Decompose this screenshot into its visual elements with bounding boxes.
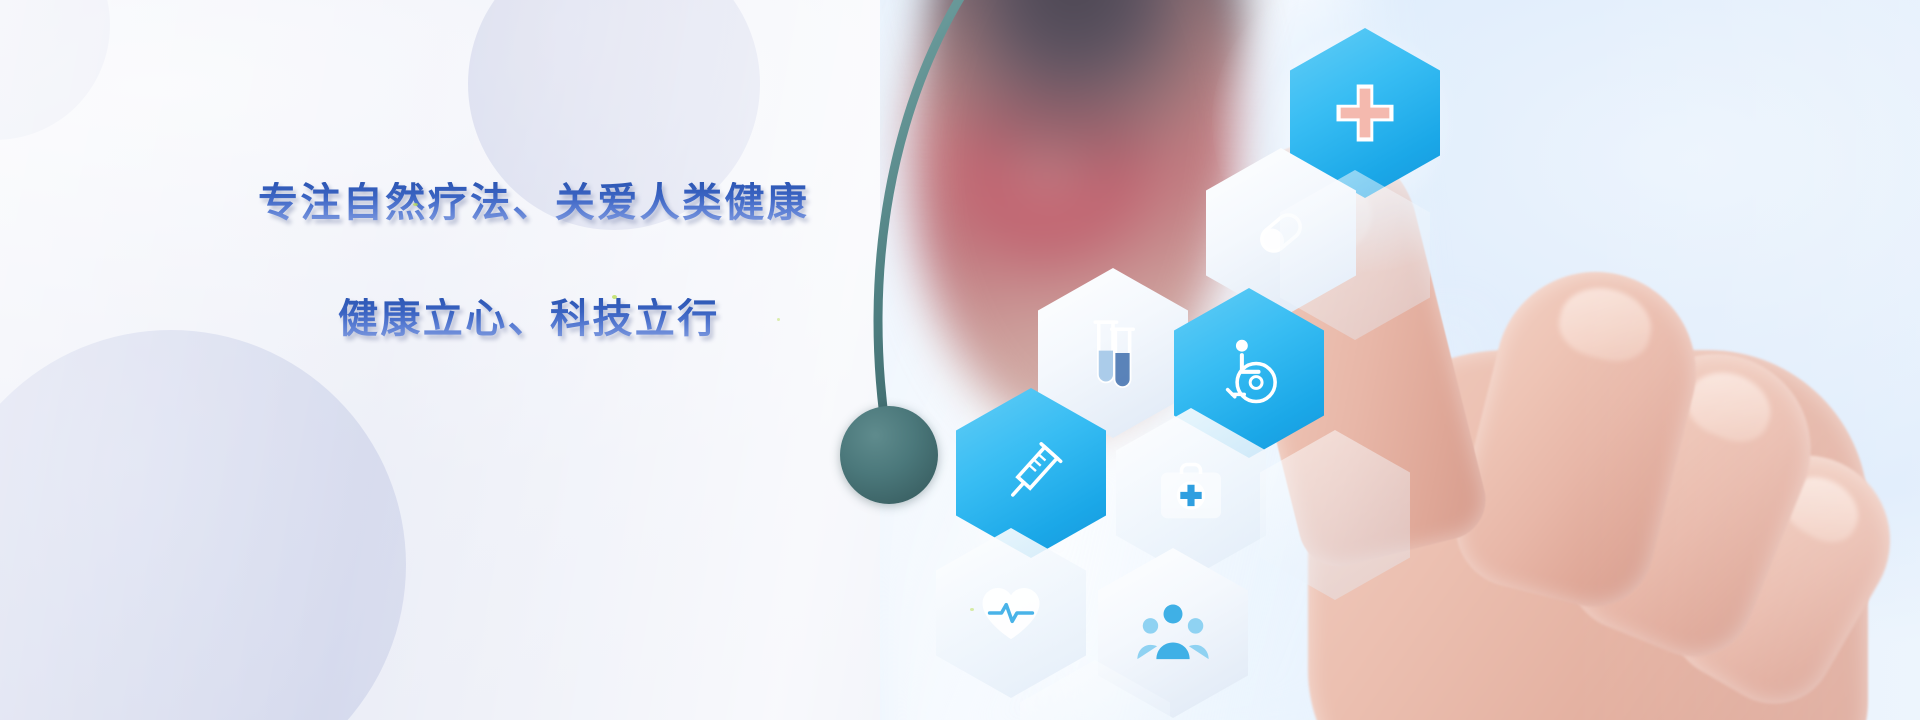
first-aid-kit-icon <box>1153 455 1229 531</box>
decorative-circle-small <box>0 0 110 140</box>
green-speck <box>413 203 418 206</box>
page-subtitle-line-2: 健康立心、科技立行 <box>338 298 880 340</box>
headline-block: 专注自然疗法、关爱人类健康 健康立心、科技立行 <box>0 182 880 340</box>
green-speck <box>777 318 780 321</box>
hexagon-heart[interactable] <box>936 528 1086 698</box>
green-speck <box>970 608 974 611</box>
medical-cross-icon <box>1327 75 1403 151</box>
stethoscope-chestpiece <box>840 406 938 504</box>
hero-banner: 专注自然疗法、关爱人类健康 健康立心、科技立行 <box>0 0 1920 720</box>
family-group-icon <box>1135 595 1211 671</box>
hexagon-accent-lower <box>1260 430 1410 600</box>
middle-nail <box>1553 279 1659 369</box>
decorative-circle-bottom <box>0 330 406 720</box>
heart-icon <box>973 575 1049 651</box>
page-title-line-1: 专注自然疗法、关爱人类健康 <box>258 182 880 224</box>
green-speck <box>612 295 617 299</box>
wheelchair-icon <box>1211 335 1287 411</box>
